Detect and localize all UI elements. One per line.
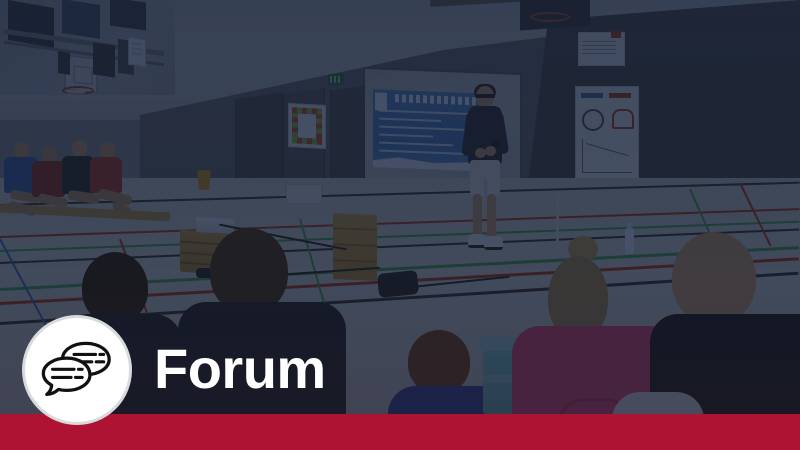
forum-banner: Forum — [0, 0, 800, 450]
page-title: Forum — [154, 341, 326, 397]
forum-badge — [22, 315, 132, 425]
speech-bubbles-icon — [40, 333, 114, 407]
accent-bar — [0, 414, 800, 450]
